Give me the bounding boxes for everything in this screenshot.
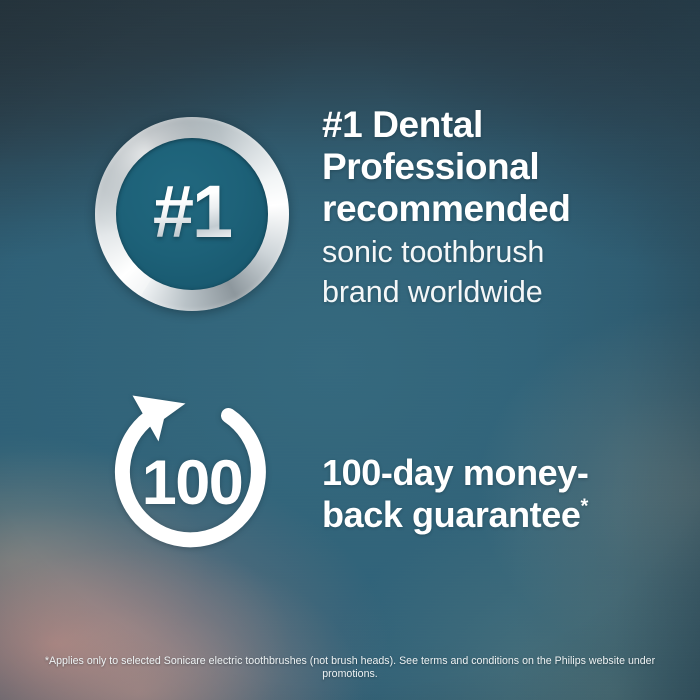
claim-1-subline-line-2: brand worldwide	[322, 273, 682, 313]
number-one-badge-disc: #1	[116, 138, 268, 290]
claim-1-headline-line-3: recommended	[322, 188, 682, 230]
promo-panel: #1 #1 Dental Professional recommended so…	[0, 0, 700, 700]
panel-content: #1 #1 Dental Professional recommended so…	[0, 0, 700, 700]
claim-1-subline: sonic toothbrush brand worldwide	[322, 233, 682, 312]
circular-arrow-badge-label: 100	[142, 448, 243, 518]
claim-1-subline-line-1: sonic toothbrush	[322, 233, 682, 273]
number-one-badge-icon: #1	[95, 117, 289, 311]
number-one-badge-label: #1	[153, 175, 231, 253]
claim-1-headline-line-1: #1 Dental	[322, 104, 682, 146]
claim-dental-professional: #1 Dental Professional recommended sonic…	[322, 104, 682, 312]
claim-2-headline-line-2-text: back guarantee	[322, 494, 581, 535]
claim-2-headline: 100-day money- back guarantee*	[322, 452, 682, 536]
circular-arrow-refresh-icon: 100	[102, 392, 282, 552]
footnote-disclaimer: *Applies only to selected Sonicare elect…	[0, 655, 700, 681]
claim-2-footnote-marker: *	[581, 496, 589, 518]
claim-2-headline-line-2: back guarantee*	[322, 494, 682, 536]
claim-1-headline-line-2: Professional	[322, 146, 682, 188]
claim-1-headline: #1 Dental Professional recommended	[322, 104, 682, 230]
claim-2-headline-line-1: 100-day money-	[322, 452, 682, 494]
claim-money-back-guarantee: 100-day money- back guarantee*	[322, 452, 682, 536]
